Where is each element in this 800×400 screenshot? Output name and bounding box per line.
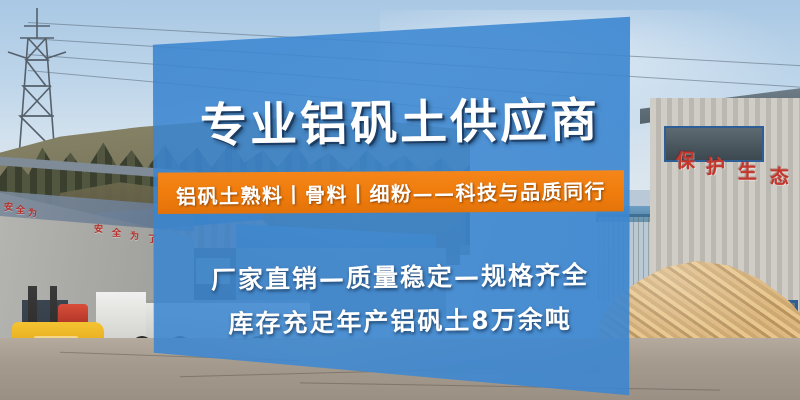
eco-sign-char: 护 (706, 158, 725, 177)
eco-sign-char: 保 (676, 152, 695, 171)
eco-sign-char: 生 (738, 163, 757, 182)
page-title: 专业铝矾土供应商 (0, 78, 800, 158)
ribbon-text: 铝矾土熟料丨骨料丨细粉——科技与品质同行 (158, 167, 625, 217)
left-building-sign-char: 安 (4, 200, 13, 213)
left-building-sign-char: 全 (16, 203, 25, 216)
left-building-sign-char: 为 (28, 206, 37, 219)
promotional-banner: 安 全 为 安 全 为 了 保 护 生 态 (0, 0, 800, 400)
left-building-sign-char: 为 (130, 229, 139, 242)
eco-sign-char: 态 (770, 168, 789, 187)
left-building-sign-char: 全 (112, 226, 121, 239)
left-building-sign-char: 安 (94, 222, 103, 235)
